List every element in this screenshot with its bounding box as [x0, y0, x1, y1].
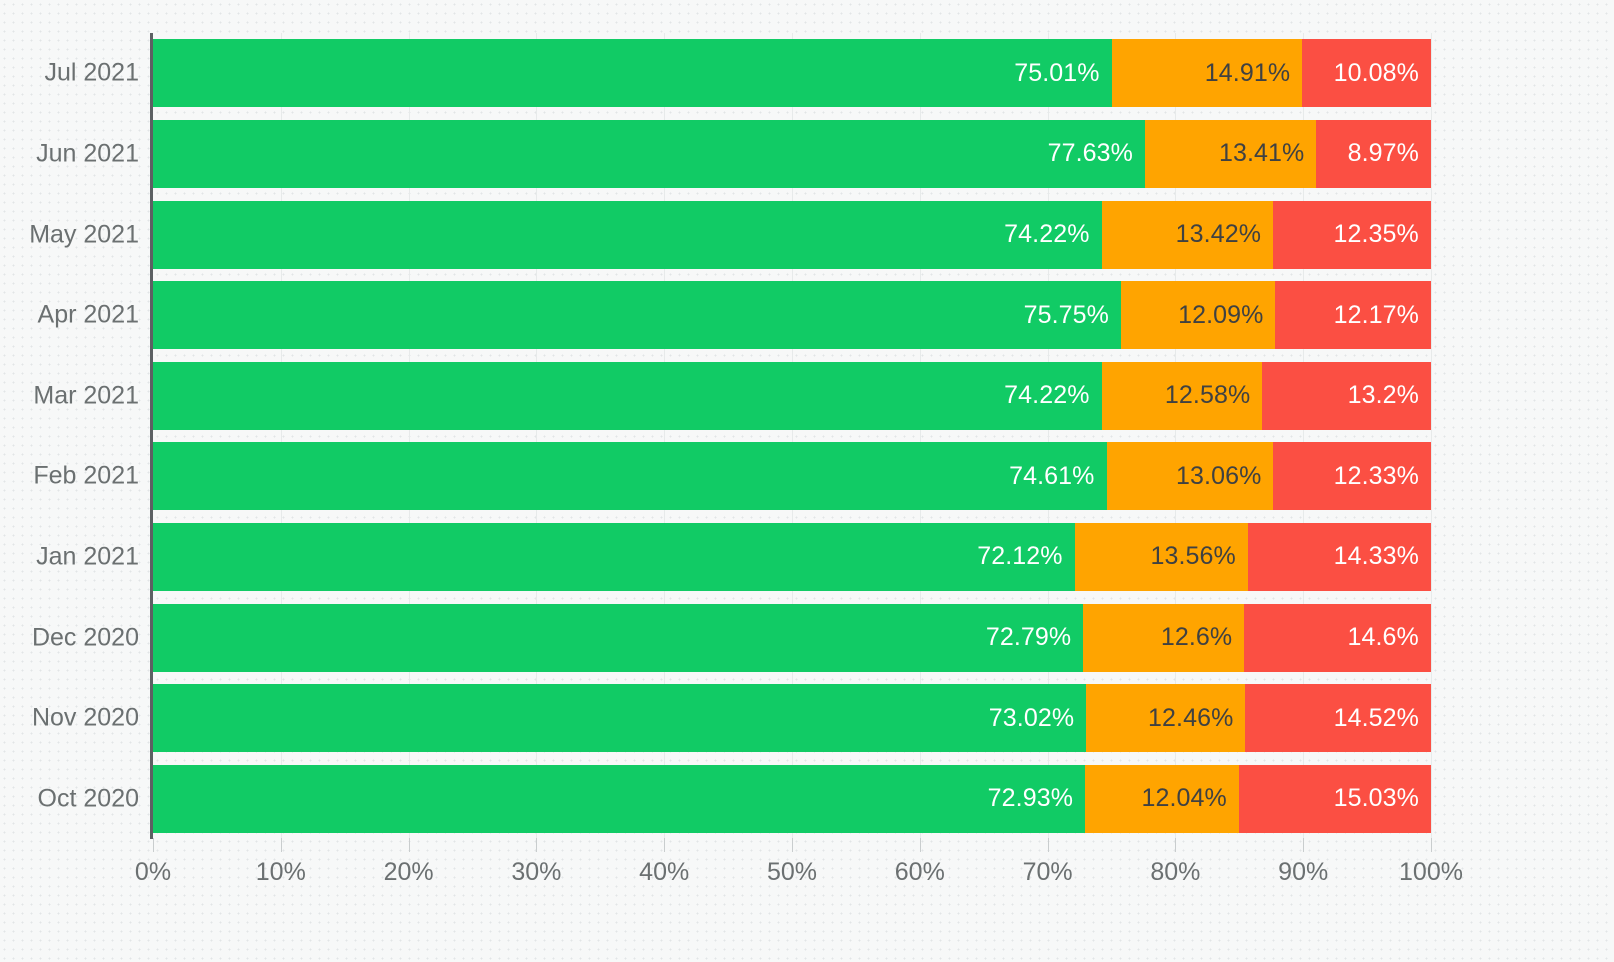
bar-segment-value-label: 12.58% — [1165, 383, 1250, 408]
x-axis-tick-label: 20% — [384, 860, 434, 885]
bar-segment-orange[interactable]: 12.6% — [1083, 604, 1244, 672]
x-axis-tick-labels: 0%10%20%30%40%50%60%70%80%90%100% — [153, 852, 1431, 892]
bar-segment-value-label: 72.79% — [986, 625, 1071, 650]
bar-row[interactable]: 77.63%13.41%8.97% — [153, 120, 1431, 188]
y-axis-label-dec-2020: Dec 2020 — [5, 625, 139, 650]
y-axis-label-jan-2021: Jan 2021 — [5, 544, 139, 569]
bar-segment-orange[interactable]: 12.04% — [1085, 765, 1239, 833]
stacked-bar-chart: Jul 2021Jun 2021May 2021Apr 2021Mar 2021… — [0, 0, 1614, 962]
bar-segment-green[interactable]: 75.75% — [153, 281, 1121, 349]
bar-segment-red[interactable]: 10.08% — [1302, 39, 1431, 107]
x-axis-tick-label: 0% — [135, 860, 171, 885]
bar-segment-value-label: 14.91% — [1205, 61, 1290, 86]
bar-segment-value-label: 77.63% — [1048, 141, 1133, 166]
bar-segment-value-label: 12.04% — [1142, 786, 1227, 811]
bar-segment-value-label: 12.33% — [1334, 464, 1419, 489]
bar-segment-green[interactable]: 77.63% — [153, 120, 1145, 188]
bar-row[interactable]: 74.22%13.42%12.35% — [153, 201, 1431, 269]
bar-segment-value-label: 13.56% — [1151, 544, 1236, 569]
bar-segment-red[interactable]: 8.97% — [1316, 120, 1431, 188]
bar-segment-value-label: 10.08% — [1334, 61, 1419, 86]
bar-segment-value-label: 12.17% — [1334, 303, 1419, 328]
x-axis-tick-label: 90% — [1278, 860, 1328, 885]
bar-row[interactable]: 75.75%12.09%12.17% — [153, 281, 1431, 349]
bar-segment-green[interactable]: 73.02% — [153, 684, 1086, 752]
x-axis-tick-mark — [920, 838, 921, 852]
bar-segment-value-label: 14.33% — [1334, 544, 1419, 569]
bar-segment-value-label: 14.6% — [1347, 625, 1418, 650]
bar-segment-orange[interactable]: 13.42% — [1102, 201, 1274, 269]
x-axis-tick-label: 60% — [895, 860, 945, 885]
y-axis-label-may-2021: May 2021 — [5, 222, 139, 247]
x-axis-tick-mark — [1303, 838, 1304, 852]
y-axis-label-oct-2020: Oct 2020 — [5, 786, 139, 811]
bar-segment-red[interactable]: 12.17% — [1275, 281, 1431, 349]
bar-segment-orange[interactable]: 13.56% — [1075, 523, 1248, 591]
x-axis-tick-mark — [536, 838, 537, 852]
bar-segment-value-label: 75.01% — [1014, 61, 1099, 86]
y-axis-label-mar-2021: Mar 2021 — [5, 383, 139, 408]
bar-segment-value-label: 74.22% — [1004, 383, 1089, 408]
bar-segment-green[interactable]: 72.12% — [153, 523, 1075, 591]
bar-segment-value-label: 14.52% — [1334, 706, 1419, 731]
bar-segment-value-label: 12.35% — [1333, 222, 1418, 247]
x-axis-tick-mark — [409, 838, 410, 852]
bar-segment-green[interactable]: 75.01% — [153, 39, 1112, 107]
x-axis-tick-mark — [281, 838, 282, 852]
x-axis-tick-label: 10% — [256, 860, 306, 885]
bar-segment-value-label: 74.61% — [1009, 464, 1094, 489]
y-axis-label-jun-2021: Jun 2021 — [5, 141, 139, 166]
bar-segment-green[interactable]: 72.79% — [153, 604, 1083, 672]
bar-segment-green[interactable]: 74.61% — [153, 442, 1107, 510]
x-axis-tick-mark — [664, 838, 665, 852]
bar-segment-value-label: 75.75% — [1024, 303, 1109, 328]
x-axis-tick-label: 70% — [1023, 860, 1073, 885]
bar-segment-value-label: 8.97% — [1348, 141, 1419, 166]
y-axis-label-jul-2021: Jul 2021 — [5, 61, 139, 86]
bar-segment-value-label: 13.2% — [1348, 383, 1419, 408]
bar-segment-red[interactable]: 14.6% — [1244, 604, 1431, 672]
bar-segment-orange[interactable]: 12.46% — [1086, 684, 1245, 752]
bar-row[interactable]: 72.79%12.6%14.6% — [153, 604, 1431, 672]
gridline — [1431, 33, 1432, 839]
bar-segment-orange[interactable]: 13.41% — [1145, 120, 1316, 188]
bar-segment-green[interactable]: 74.22% — [153, 201, 1102, 269]
bar-row[interactable]: 72.12%13.56%14.33% — [153, 523, 1431, 591]
bar-segment-orange[interactable]: 12.09% — [1121, 281, 1275, 349]
bar-segment-value-label: 13.42% — [1176, 222, 1261, 247]
y-axis-category-labels: Jul 2021Jun 2021May 2021Apr 2021Mar 2021… — [0, 33, 139, 839]
bar-segment-green[interactable]: 74.22% — [153, 362, 1102, 430]
x-axis-tick-mark — [1048, 838, 1049, 852]
x-axis-tick-mark — [153, 838, 154, 852]
bar-segment-value-label: 12.6% — [1161, 625, 1232, 650]
y-axis-label-nov-2020: Nov 2020 — [5, 706, 139, 731]
y-axis-label-apr-2021: Apr 2021 — [5, 303, 139, 328]
bar-segment-orange[interactable]: 12.58% — [1102, 362, 1263, 430]
bar-row[interactable]: 74.22%12.58%13.2% — [153, 362, 1431, 430]
x-axis-tick-label: 30% — [511, 860, 561, 885]
bar-row[interactable]: 72.93%12.04%15.03% — [153, 765, 1431, 833]
bar-row[interactable]: 73.02%12.46%14.52% — [153, 684, 1431, 752]
bar-segment-orange[interactable]: 13.06% — [1107, 442, 1274, 510]
bar-segment-red[interactable]: 14.52% — [1245, 684, 1431, 752]
bar-row[interactable]: 74.61%13.06%12.33% — [153, 442, 1431, 510]
bar-segment-green[interactable]: 72.93% — [153, 765, 1085, 833]
bar-row[interactable]: 75.01%14.91%10.08% — [153, 39, 1431, 107]
bar-segment-value-label: 72.93% — [988, 786, 1073, 811]
bar-segment-value-label: 72.12% — [977, 544, 1062, 569]
bar-segment-red[interactable]: 15.03% — [1239, 765, 1431, 833]
y-axis-label-feb-2021: Feb 2021 — [5, 464, 139, 489]
x-axis-tick-label: 100% — [1399, 860, 1463, 885]
x-axis-tick-label: 80% — [1150, 860, 1200, 885]
bar-segment-red[interactable]: 12.33% — [1273, 442, 1431, 510]
bar-segment-value-label: 12.46% — [1148, 706, 1233, 731]
bar-segment-red[interactable]: 14.33% — [1248, 523, 1431, 591]
x-axis-tick-mark — [792, 838, 793, 852]
bar-segment-red[interactable]: 12.35% — [1273, 201, 1431, 269]
bar-segment-value-label: 15.03% — [1334, 786, 1419, 811]
bar-segment-orange[interactable]: 14.91% — [1112, 39, 1303, 107]
x-axis-tick-label: 50% — [767, 860, 817, 885]
bar-segment-value-label: 12.09% — [1178, 303, 1263, 328]
bar-segment-value-label: 74.22% — [1004, 222, 1089, 247]
bar-segment-value-label: 73.02% — [989, 706, 1074, 731]
x-axis-tick-mark — [1431, 838, 1432, 852]
bar-segment-value-label: 13.06% — [1176, 464, 1261, 489]
x-axis-tick-mark — [1175, 838, 1176, 852]
bar-segment-value-label: 13.41% — [1219, 141, 1304, 166]
plot-area: 75.01%14.91%10.08%77.63%13.41%8.97%74.22… — [153, 33, 1431, 839]
bar-segment-red[interactable]: 13.2% — [1262, 362, 1431, 430]
x-axis-tick-label: 40% — [639, 860, 689, 885]
